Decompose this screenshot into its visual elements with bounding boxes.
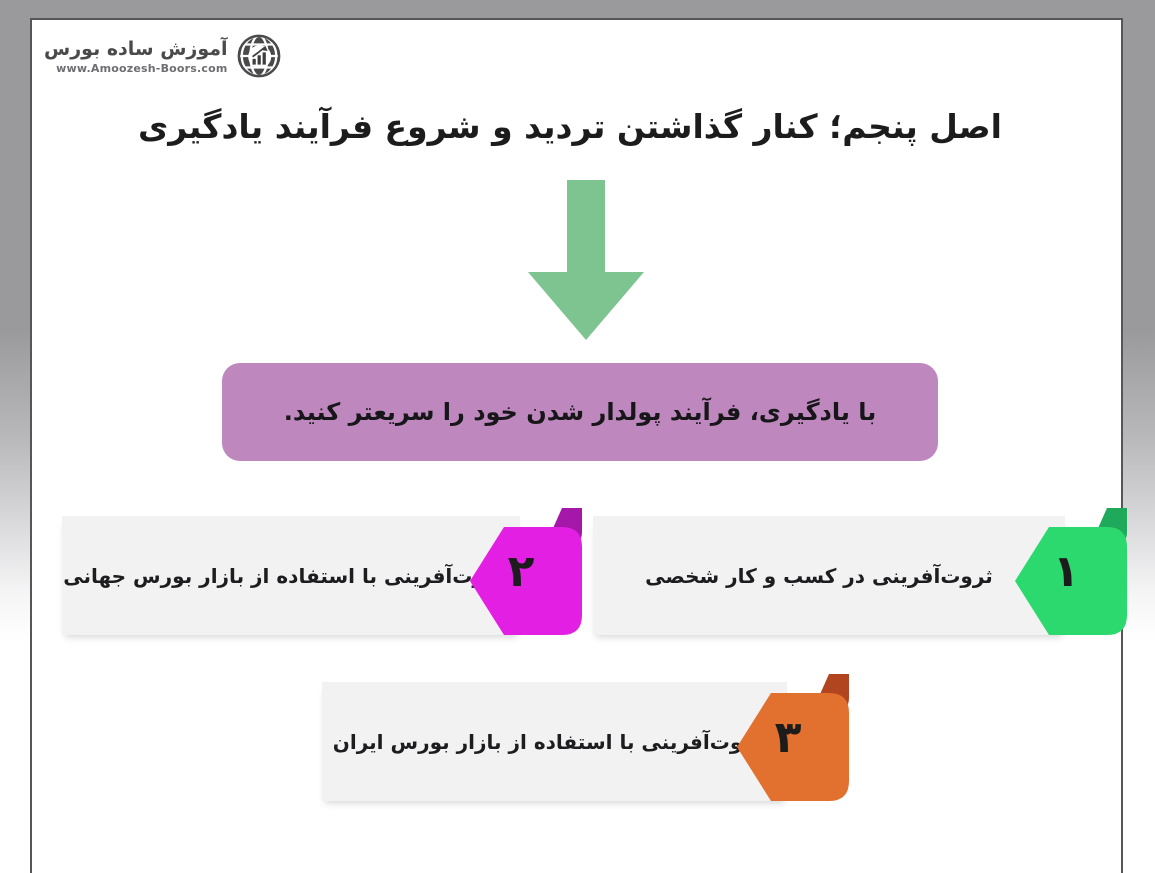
list-item[interactable]: ثروت‌آفرینی با استفاده از بازار بورس جها… [62, 508, 582, 635]
globe-chart-icon [236, 33, 282, 79]
card-body: ثروت‌آفرینی با استفاده از بازار بورس جها… [62, 516, 520, 635]
card-number-badge: ۳ [737, 674, 849, 801]
callout-box: با یادگیری، فرآیند پولدار شدن خود را سری… [222, 363, 938, 461]
brand-logo[interactable]: آموزش ساده بورس www.Amoozesh-Boors.com [44, 33, 282, 79]
callout-text: با یادگیری، فرآیند پولدار شدن خود را سری… [284, 398, 877, 426]
badge-shape-icon [1015, 508, 1127, 635]
brand-text-block: آموزش ساده بورس www.Amoozesh-Boors.com [44, 38, 228, 74]
badge-shape-icon [470, 508, 582, 635]
card-body: ثروت‌آفرینی در کسب و کار شخصی [593, 516, 1065, 635]
arrow-down-icon [520, 180, 652, 345]
card-label: ثروت‌آفرینی با استفاده از بازار بورس جها… [62, 564, 520, 588]
card-label: ثروت‌آفرینی با استفاده از بازار بورس ایر… [322, 730, 787, 754]
page-title: اصل پنجم؛ کنار گذاشتن تردید و شروع فرآین… [60, 103, 1080, 151]
list-item[interactable]: ثروت‌آفرینی با استفاده از بازار بورس ایر… [322, 674, 849, 801]
infographic-canvas: آموزش ساده بورس www.Amoozesh-Boors.com ا… [0, 0, 1155, 873]
brand-url: www.Amoozesh-Boors.com [56, 63, 227, 74]
card-number-badge: ۱ [1015, 508, 1127, 635]
card-body: ثروت‌آفرینی با استفاده از بازار بورس ایر… [322, 682, 787, 801]
card-number-badge: ۲ [470, 508, 582, 635]
list-item[interactable]: ثروت‌آفرینی در کسب و کار شخصی ۱ [593, 508, 1127, 635]
badge-shape-icon [737, 674, 849, 801]
brand-name: آموزش ساده بورس [44, 40, 228, 59]
card-label: ثروت‌آفرینی در کسب و کار شخصی [593, 564, 1065, 588]
